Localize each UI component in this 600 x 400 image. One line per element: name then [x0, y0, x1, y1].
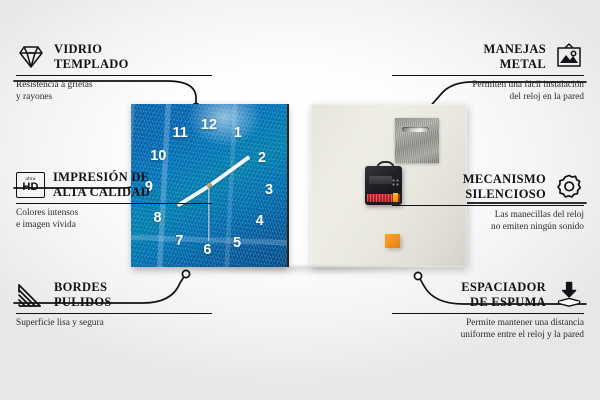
callout-foam-spacer-desc: Permite mantener una distancia uniforme …	[392, 317, 584, 342]
callout-polished-edges: BORDES PULIDOS Superficie lisa y segura	[16, 280, 212, 329]
callout-polished-edges-desc: Superficie lisa y segura	[16, 317, 212, 329]
callout-polished-edges-rule	[16, 313, 212, 314]
clock-numeral-4: 4	[256, 214, 264, 229]
callout-foam-spacer-title: ESPACIADOR DE ESPUMA	[461, 280, 546, 310]
ultra-hd-badge-icon: ultra HD	[16, 172, 45, 198]
callout-silent-mechanism-desc: Las manecillas del reloj no emiten ningú…	[392, 209, 584, 234]
infographic-stage: 12 1 2 3 4 5 6 7 8 9 10 11	[0, 0, 600, 400]
hanger-keyhole-slot	[402, 127, 429, 132]
clock-numeral-12: 12	[201, 118, 217, 133]
callout-metal-hangers-title: MANEJAS METAL	[483, 42, 546, 72]
clock-numeral-10: 10	[150, 149, 166, 164]
callout-silent-mechanism-head: MECANISMO SILENCIOSO	[392, 172, 584, 202]
callout-tempered-glass-head: VIDRIO TEMPLADO	[16, 42, 212, 72]
product-drop-shadow	[131, 266, 471, 278]
callout-metal-hangers-head: MANEJAS METAL	[392, 42, 584, 72]
callout-tempered-glass: VIDRIO TEMPLADO Resistencia a grietas y …	[16, 42, 212, 103]
polished-edge-hatch-icon	[16, 282, 46, 308]
callout-tempered-glass-rule	[16, 75, 212, 76]
clock-numeral-5: 5	[233, 236, 241, 251]
callout-foam-spacer: ESPACIADOR DE ESPUMA Permite mantener un…	[392, 280, 584, 341]
callout-metal-hangers: MANEJAS METAL Permiten una fácil instala…	[392, 42, 584, 103]
gear-icon	[554, 173, 584, 201]
clock-numeral-3: 3	[265, 183, 273, 198]
clock-numeral-7: 7	[175, 234, 183, 249]
movement-grey-bar	[369, 176, 392, 184]
callout-foam-spacer-rule	[392, 313, 584, 314]
callout-hd-print-head: ultra HD IMPRESIÓN DE ALTA CALIDAD	[16, 170, 212, 200]
diamond-icon	[16, 44, 46, 70]
foam-spacer	[385, 234, 400, 248]
callout-polished-edges-head: BORDES PULIDOS	[16, 280, 212, 310]
clock-numeral-2: 2	[258, 151, 266, 166]
callout-metal-hangers-rule	[392, 75, 584, 76]
clock-minute-hand	[208, 155, 251, 187]
metal-hanger-plate	[395, 118, 439, 163]
callout-silent-mechanism-title: MECANISMO SILENCIOSO	[463, 172, 546, 202]
callout-tempered-glass-desc: Resistencia a grietas y rayones	[16, 79, 212, 104]
callout-polished-edges-title: BORDES PULIDOS	[54, 280, 112, 310]
clock-numeral-6: 6	[203, 243, 211, 258]
callout-hd-print: ultra HD IMPRESIÓN DE ALTA CALIDAD Color…	[16, 170, 212, 231]
callout-silent-mechanism: MECANISMO SILENCIOSO Las manecillas del …	[392, 172, 584, 233]
callout-tempered-glass-title: VIDRIO TEMPLADO	[54, 42, 129, 72]
clock-numeral-1: 1	[234, 125, 242, 140]
callout-hd-print-rule	[16, 203, 212, 204]
callout-hd-print-desc: Colores intensos e imagen vívida	[16, 207, 212, 232]
callout-metal-hangers-desc: Permiten una fácil instalación del reloj…	[392, 79, 584, 104]
arrow-down-onto-pad-icon	[554, 281, 584, 308]
picture-frame-hanging-icon	[554, 43, 584, 70]
clock-numeral-11: 11	[172, 126, 187, 141]
ultra-hd-badge-big-text: HD	[22, 182, 38, 193]
callout-hd-print-title: IMPRESIÓN DE ALTA CALIDAD	[53, 170, 150, 200]
callout-foam-spacer-head: ESPACIADOR DE ESPUMA	[392, 280, 584, 310]
callout-silent-mechanism-rule	[392, 205, 584, 206]
